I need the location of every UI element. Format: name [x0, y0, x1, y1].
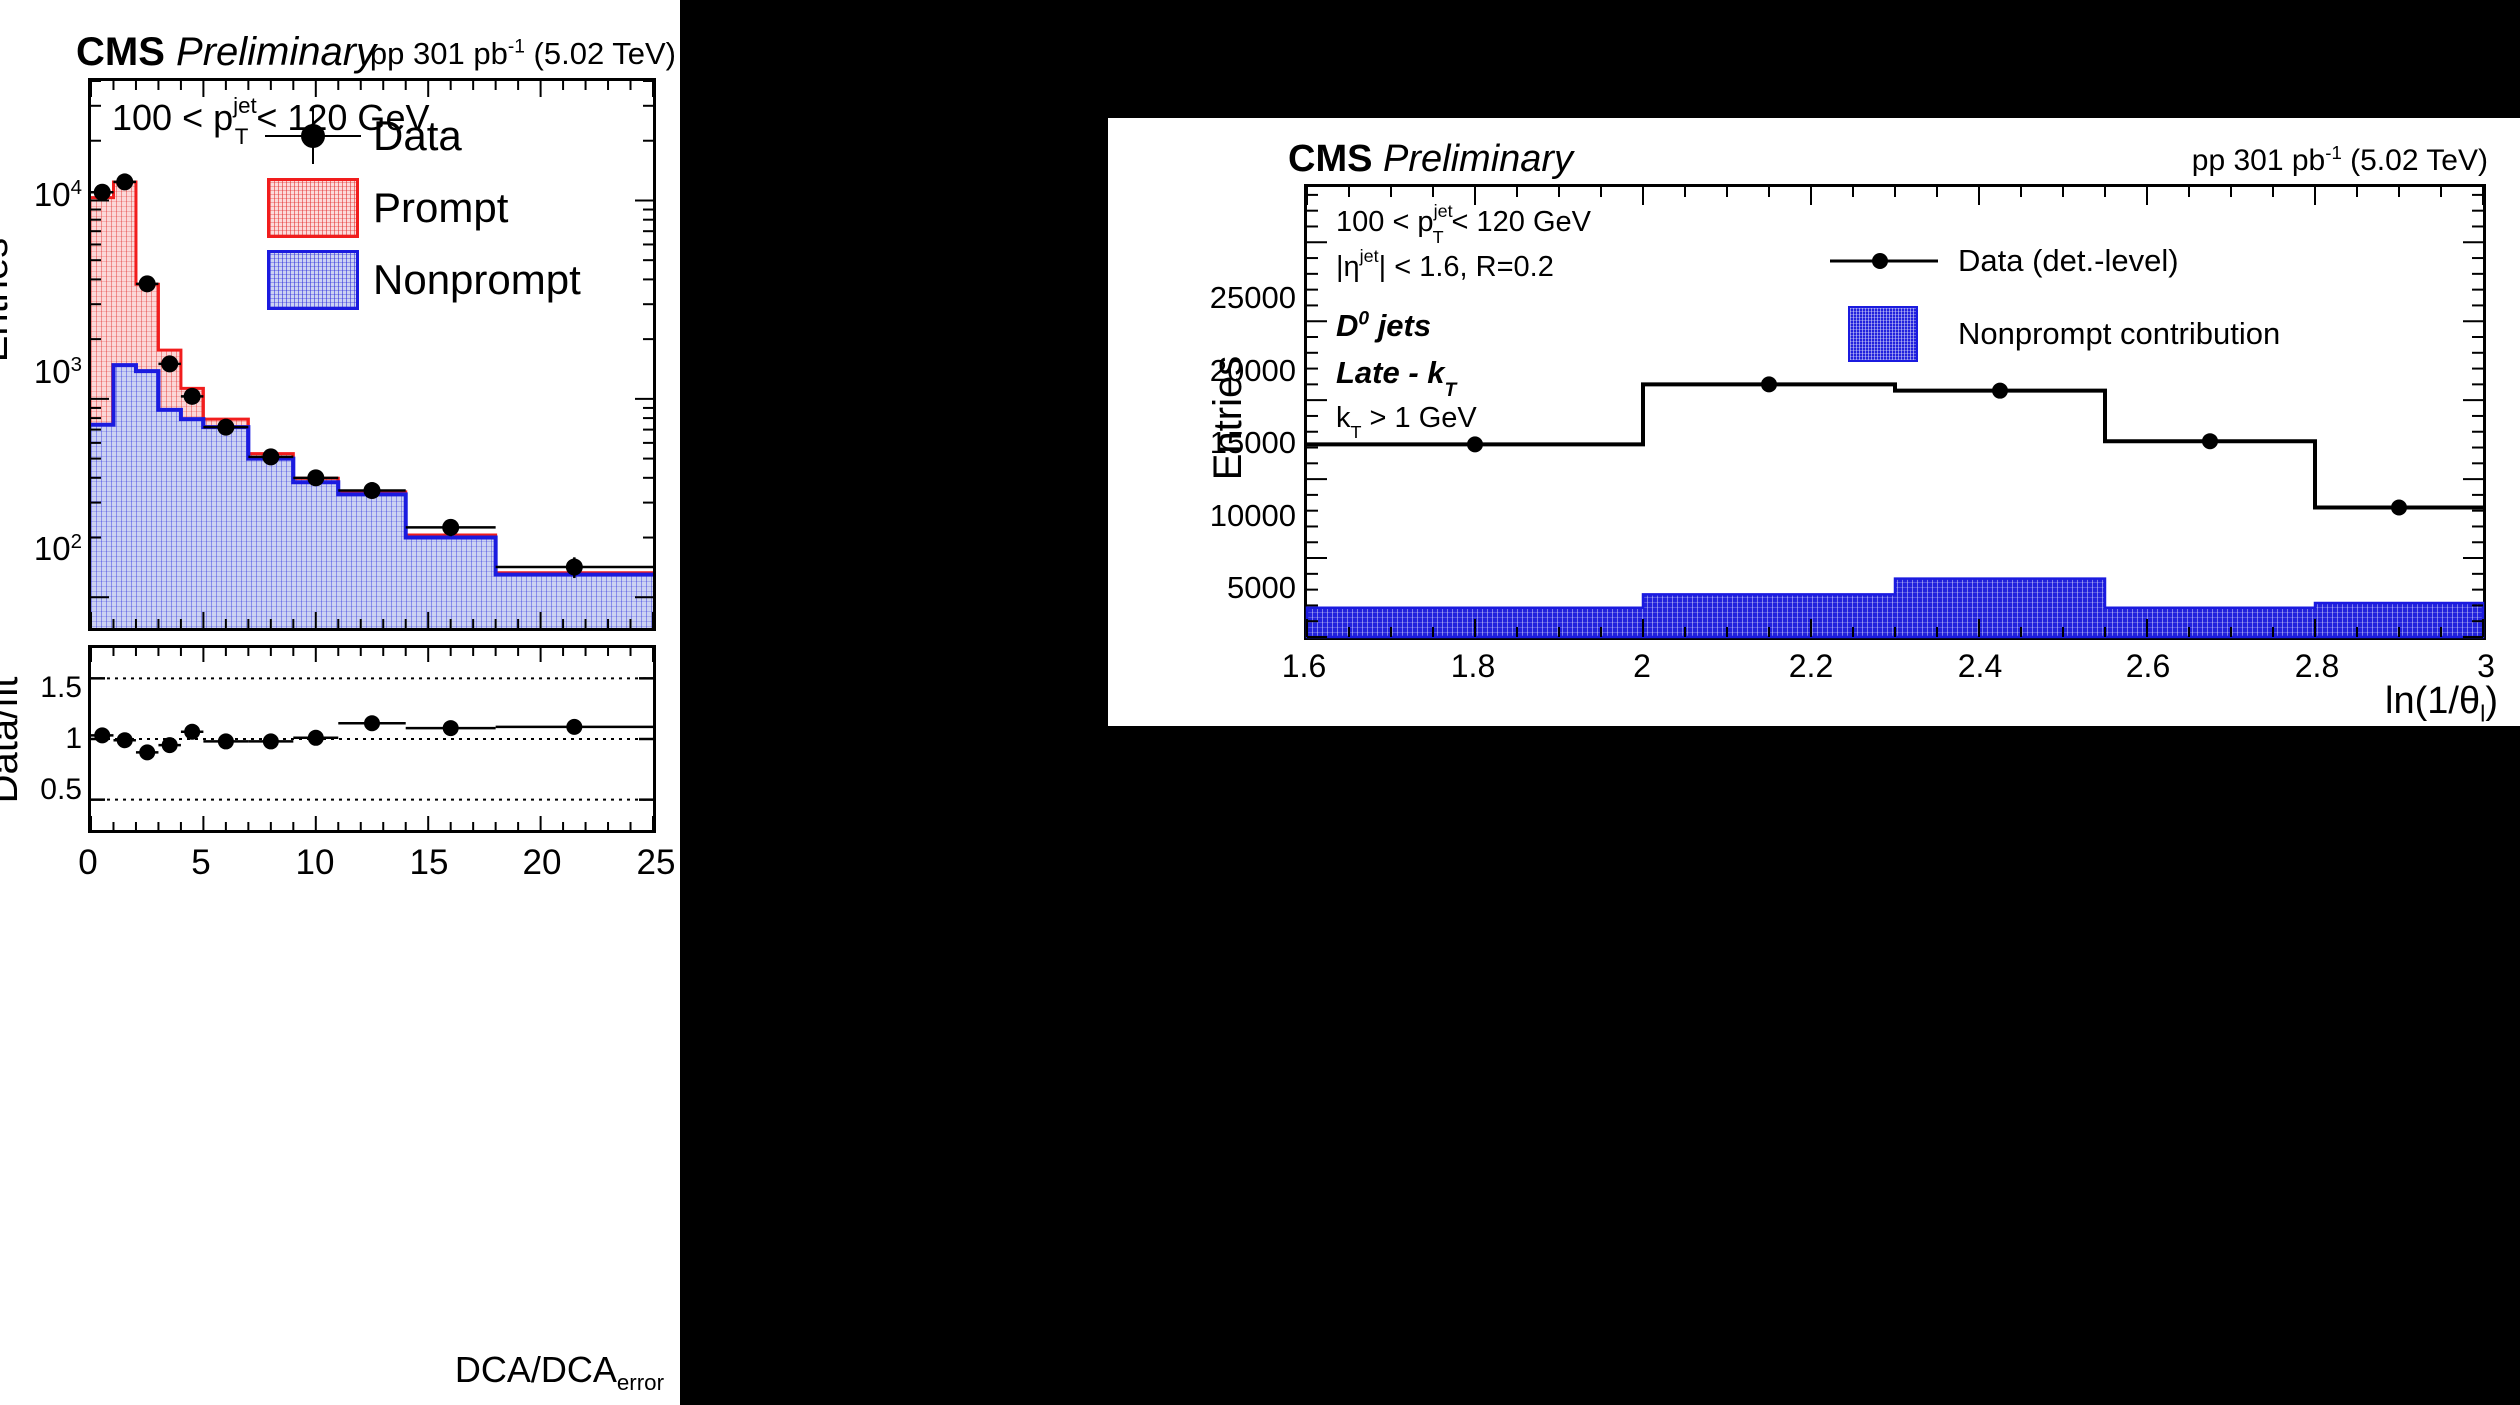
- right-y-tick-10000: 10000: [1138, 498, 1296, 534]
- cms-label: CMS: [76, 30, 165, 74]
- figure-canvas: CMS Preliminary pp 301 pb-1 (5.02 TeV) E…: [0, 0, 2520, 1405]
- ratio-plot-frame: [88, 645, 656, 833]
- x-tick-10: 10: [296, 843, 335, 883]
- right-x-tick-2: 2: [1633, 648, 1651, 685]
- left-y-axis-title: Entries: [0, 238, 14, 363]
- right-x-tick-2p2: 2.2: [1789, 648, 1833, 685]
- x-tick-15: 15: [410, 843, 449, 883]
- right-x-tick-2p6: 2.6: [2126, 648, 2170, 685]
- right-x-tick-1p6: 1.6: [1282, 648, 1326, 685]
- y-tick-1e3: 103: [8, 353, 82, 391]
- right-x-axis-title: ln(1/θl): [2385, 682, 2498, 720]
- right-figure-panel: CMS Preliminary pp 301 pb-1 (5.02 TeV) E…: [1108, 118, 2520, 726]
- ratio-tick-1p5: 1.5: [8, 671, 82, 705]
- right-plot-frame: [1304, 184, 2486, 640]
- left-header: CMS Preliminary pp 301 pb-1 (5.02 TeV): [76, 32, 676, 78]
- y-tick-1e4: 104: [8, 176, 82, 214]
- right-preliminary-label: Preliminary: [1383, 138, 1573, 180]
- right-y-tick-25000: 25000: [1138, 280, 1296, 316]
- lumi-value: pp 301 pb: [370, 36, 508, 71]
- preliminary-label: Preliminary: [176, 30, 376, 74]
- right-x-tick-2p4: 2.4: [1958, 648, 2002, 685]
- lumi-exponent: -1: [508, 37, 525, 58]
- right-y-tick-20000: 20000: [1138, 353, 1296, 389]
- right-x-tick-2p8: 2.8: [2295, 648, 2339, 685]
- x-tick-5: 5: [191, 843, 210, 883]
- x-tick-0: 0: [78, 843, 97, 883]
- right-cms-preliminary-label: CMS Preliminary: [1288, 140, 1573, 178]
- left-main-plot-frame: [88, 78, 656, 631]
- ratio-tick-1: 1: [8, 722, 82, 756]
- cms-preliminary-label: CMS Preliminary: [76, 32, 376, 72]
- lumi-energy-label: pp 301 pb-1 (5.02 TeV): [370, 38, 676, 69]
- x-tick-25: 25: [637, 843, 676, 883]
- right-x-tick-1p8: 1.8: [1451, 648, 1495, 685]
- right-plot-svg: [1307, 187, 2483, 637]
- ratio-plot-svg: [91, 648, 653, 830]
- ratio-tick-0p5: 0.5: [8, 773, 82, 807]
- right-lumi-energy-label: pp 301 pb-1 (5.02 TeV): [2192, 146, 2488, 176]
- right-cms-label: CMS: [1288, 138, 1372, 180]
- left-figure-panel: CMS Preliminary pp 301 pb-1 (5.02 TeV) E…: [0, 0, 680, 1405]
- energy-value: (5.02 TeV): [525, 36, 676, 71]
- y-tick-1e2: 102: [8, 530, 82, 568]
- left-main-plot-svg: [91, 81, 653, 628]
- right-y-tick-15000: 15000: [1138, 425, 1296, 461]
- x-tick-20: 20: [523, 843, 562, 883]
- left-x-axis-title: DCA/DCAerror: [455, 1352, 664, 1388]
- right-y-tick-5000: 5000: [1138, 570, 1296, 606]
- right-header: CMS Preliminary pp 301 pb-1 (5.02 TeV): [1288, 140, 2488, 184]
